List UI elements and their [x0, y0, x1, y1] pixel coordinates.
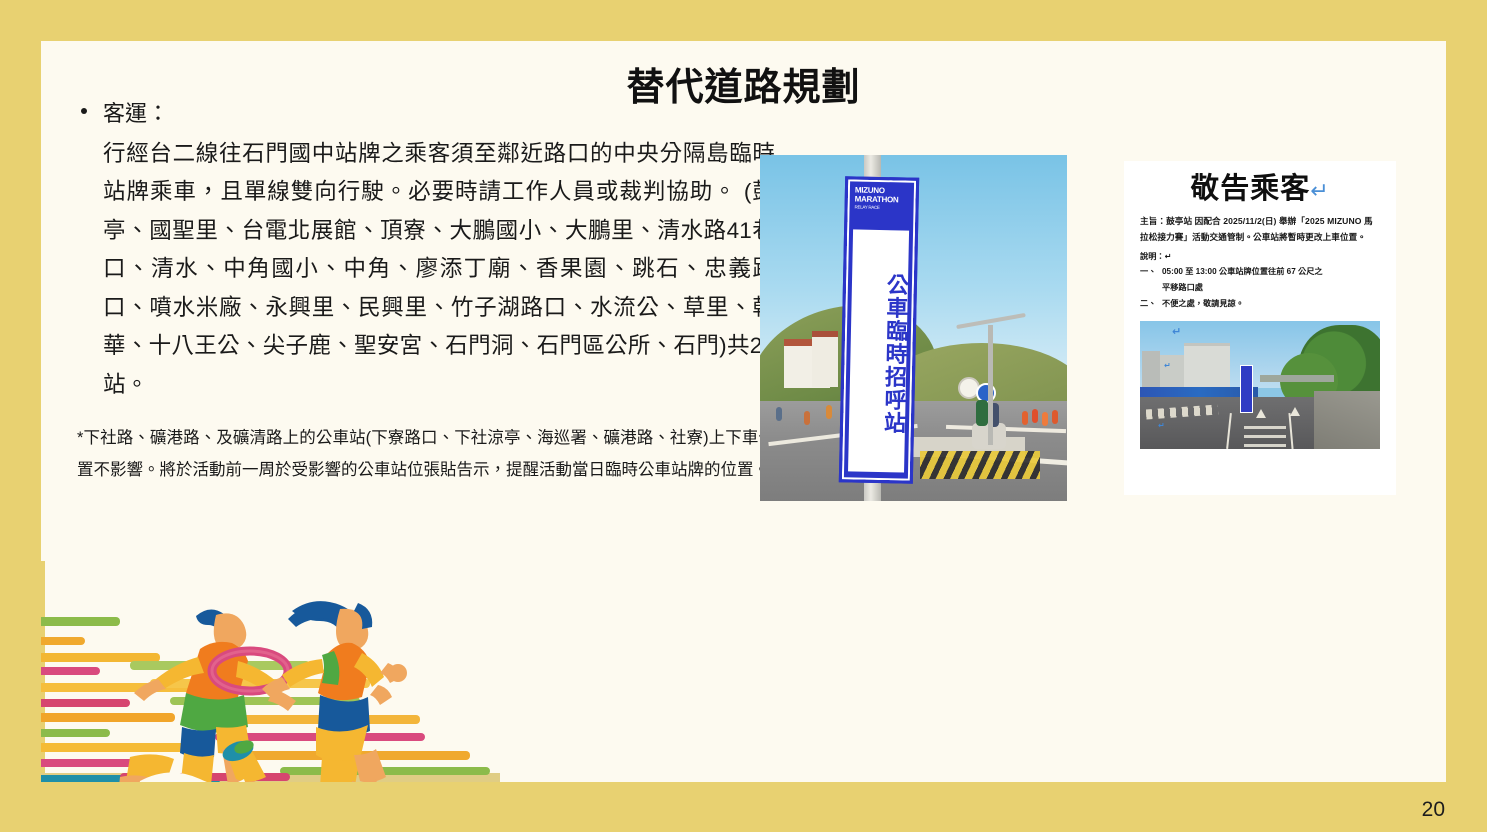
- notice-item: 一、 05:00 至 13:00 公車站牌位置往前 67 公尺之: [1140, 264, 1380, 280]
- notice-item: 平移路口處: [1140, 280, 1380, 296]
- footnote-paragraph: *下社路、礦港路、及礦清路上的公車站(下寮路口、下社涼亭、海巡署、礦港路、社寮)…: [63, 422, 775, 486]
- person-shape: [804, 411, 810, 425]
- person-shape: [1022, 411, 1028, 425]
- bullet-dot-icon: [81, 108, 87, 114]
- hazard-stripe-barrier: [920, 451, 1040, 479]
- notice-title-text: 敬告乘客: [1190, 173, 1310, 205]
- overpass-shape: [1260, 375, 1334, 382]
- street-view-photo: ↵ ↵ ↵: [1140, 321, 1380, 449]
- person-shape: [1032, 409, 1038, 423]
- person-shape: [1052, 410, 1058, 424]
- sign-brand-header: MIZUNO MARATHON RELAY RACE: [851, 183, 912, 226]
- person-shape: [1042, 412, 1048, 426]
- sign-brand-line2: MARATHON: [855, 195, 899, 205]
- road-arrow-marking: [1290, 407, 1300, 416]
- sidewalk-region: [1314, 391, 1380, 449]
- main-paragraph: 行經台二線往石門國中站牌之乘客須至鄰近路口的中央分隔島臨時站牌乘車，且單線雙向行…: [63, 135, 775, 404]
- sign-brand-line1: MIZUNO: [855, 185, 885, 195]
- building-shape: [1142, 351, 1160, 391]
- pilcrow-icon: ↵: [1165, 252, 1172, 261]
- pilcrow-icon: ↵: [1310, 178, 1329, 203]
- street-light-pole: [988, 325, 993, 445]
- notice-item-text: 平移路口處: [1162, 280, 1203, 296]
- person-shape: [776, 407, 782, 421]
- blue-bus-stop-sign: [1240, 365, 1253, 413]
- notice-explain-label-text: 說明：: [1140, 252, 1165, 261]
- pilcrow-icon: ↵: [1164, 361, 1171, 370]
- notice-item-text: 不便之處，敬請見諒。: [1162, 296, 1244, 312]
- pilcrow-icon: ↵: [1158, 421, 1165, 430]
- sign-main-text: 公車臨時招呼站: [848, 229, 909, 472]
- person-shape: [976, 400, 988, 426]
- bullet-item-label: 客運：: [103, 101, 169, 126]
- notice-item-number: 二、: [1140, 296, 1156, 312]
- photo-bus-temporary-stop-sign: MIZUNO MARATHON RELAY RACE 公車臨時招呼站: [760, 155, 1067, 501]
- notice-sheet: 敬告乘客↵ 主旨：鼓亭站 因配合 2025/11/2(日) 舉辦「2025 MI…: [1124, 161, 1396, 495]
- road-text-marking: [1244, 421, 1286, 447]
- notice-item-text: 05:00 至 13:00 公車站牌位置往前 67 公尺之: [1162, 264, 1323, 280]
- page-number: 20: [1422, 798, 1445, 822]
- notice-item-number: [1140, 280, 1156, 296]
- photo-passenger-notice: 敬告乘客↵ 主旨：鼓亭站 因配合 2025/11/2(日) 舉辦「2025 MI…: [1106, 155, 1414, 501]
- sign-brand-sub: RELAY RACE: [855, 205, 909, 211]
- runners-illustration: [41, 561, 500, 782]
- notice-item-number: 一、: [1140, 264, 1156, 280]
- notice-item: 二、 不便之處，敬請見諒。: [1140, 296, 1380, 312]
- notice-subject-line: 主旨：鼓亭站 因配合 2025/11/2(日) 舉辦「2025 MIZUNO 馬…: [1140, 214, 1380, 246]
- road-arrow-marking: [1256, 409, 1266, 418]
- pilcrow-icon: ↵: [1172, 325, 1181, 338]
- slide-root: 替代道路規劃 客運： 行經台二線往石門國中站牌之乘客須至鄰近路口的中央分隔島臨時…: [0, 0, 1487, 832]
- person-shape: [826, 405, 832, 419]
- temporary-bus-stop-sign: MIZUNO MARATHON RELAY RACE 公車臨時招呼站: [839, 176, 919, 483]
- bullet-item-bus-service: 客運：: [63, 99, 775, 129]
- text-column: 客運： 行經台二線往石門國中站牌之乘客須至鄰近路口的中央分隔島臨時站牌乘車，且單…: [63, 99, 775, 486]
- notice-explain-label: 說明：↵: [1140, 249, 1380, 265]
- house-shape-secondary: [812, 331, 838, 387]
- runners-svg: [41, 561, 500, 782]
- slide-canvas: 替代道路規劃 客運： 行經台二線往石門國中站牌之乘客須至鄰近路口的中央分隔島臨時…: [41, 41, 1446, 782]
- notice-title: 敬告乘客↵: [1140, 175, 1380, 204]
